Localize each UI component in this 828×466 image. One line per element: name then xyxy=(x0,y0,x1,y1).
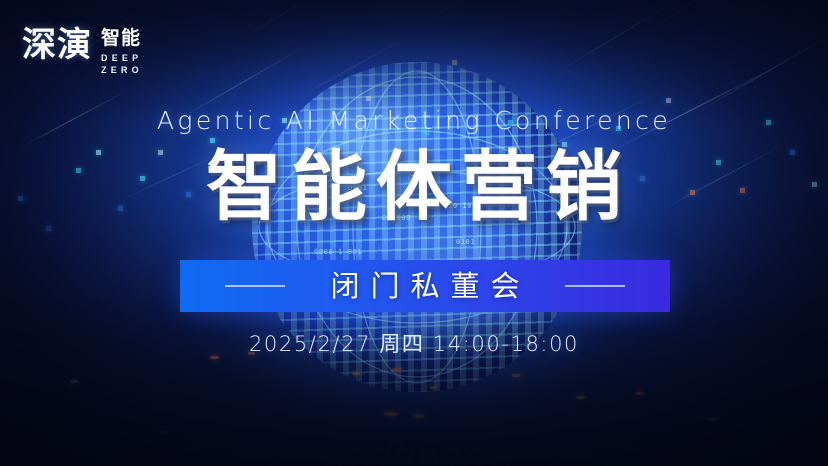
brand-logo[interactable]: 深演 智能 DEEP ZERO xyxy=(22,28,143,76)
subtitle-bar: 闭门私董会 xyxy=(180,260,670,312)
bottom-gradient-overlay xyxy=(0,296,828,466)
event-headline: 智能体营销 xyxy=(0,144,828,230)
logo-mark-text: 深演 xyxy=(22,28,92,62)
rule-left xyxy=(225,285,285,287)
event-eyebrow: Agentic AI Marketing Conference xyxy=(0,106,828,136)
conference-poster: 0001 1010 01.000 0000 1 001 0 00100 10 1… xyxy=(0,0,828,466)
logo-wordmark: 智能 DEEP ZERO xyxy=(101,28,143,76)
logo-brand-en-line2: ZERO xyxy=(101,64,143,76)
logo-brand-en-line1: DEEP xyxy=(101,52,143,64)
event-datetime: 2025/2/27 周四 14:00-18:00 xyxy=(0,330,828,358)
binary-text: 0000 1 001 xyxy=(314,248,362,256)
logo-brand-cn: 智能 xyxy=(101,29,143,49)
binary-text: 0101 xyxy=(456,238,475,246)
rule-right xyxy=(565,285,625,287)
event-subtitle: 闭门私董会 xyxy=(319,269,530,303)
